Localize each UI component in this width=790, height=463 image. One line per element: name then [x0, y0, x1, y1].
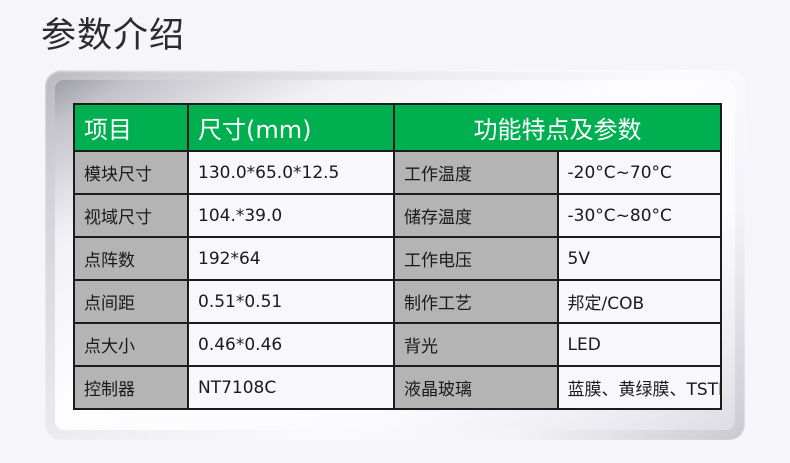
row-label-right: 储存温度 [394, 194, 558, 237]
header-item: 项目 [74, 104, 188, 151]
row-label-right: 制作工艺 [394, 280, 558, 323]
row-label-left: 控制器 [74, 366, 188, 409]
row-label-right: 背光 [394, 323, 558, 366]
row-value-left: 192*64 [188, 237, 394, 280]
row-value-left: 104.*39.0 [188, 194, 394, 237]
row-value-right: 邦定/COB [558, 280, 722, 323]
table-row: 控制器 NT7108C 液晶玻璃 蓝膜、黄绿膜、TSTN黑白 [74, 366, 721, 409]
table-row: 点阵数 192*64 工作电压 5V [74, 237, 721, 280]
row-value-right: LED [558, 323, 722, 366]
row-label-right: 工作温度 [394, 151, 558, 194]
row-value-left: NT7108C [188, 366, 394, 409]
page-title: 参数介绍 [41, 14, 185, 58]
table-row: 点间距 0.51*0.51 制作工艺 邦定/COB [74, 280, 721, 323]
row-value-right: -20°C~70°C [558, 151, 722, 194]
header-features: 功能特点及参数 [394, 104, 721, 151]
specifications-table: 项目 尺寸(mm) 功能特点及参数 模块尺寸 130.0*65.0*12.5 工… [73, 103, 722, 410]
table-body: 模块尺寸 130.0*65.0*12.5 工作温度 -20°C~70°C 视域尺… [74, 151, 721, 409]
row-value-left: 0.46*0.46 [188, 323, 394, 366]
row-label-left: 视域尺寸 [74, 194, 188, 237]
table-row: 视域尺寸 104.*39.0 储存温度 -30°C~80°C [74, 194, 721, 237]
table-row: 模块尺寸 130.0*65.0*12.5 工作温度 -20°C~70°C [74, 151, 721, 194]
table-header-row: 项目 尺寸(mm) 功能特点及参数 [74, 104, 721, 151]
table-header: 项目 尺寸(mm) 功能特点及参数 [74, 104, 721, 151]
row-value-right: 5V [558, 237, 722, 280]
row-label-left: 点阵数 [74, 237, 188, 280]
row-value-left: 0.51*0.51 [188, 280, 394, 323]
row-value-right: 蓝膜、黄绿膜、TSTN黑白 [558, 366, 722, 409]
row-label-left: 点间距 [74, 280, 188, 323]
row-value-left: 130.0*65.0*12.5 [188, 151, 394, 194]
row-label-left: 模块尺寸 [74, 151, 188, 194]
row-label-left: 点大小 [74, 323, 188, 366]
row-value-right: -30°C~80°C [558, 194, 722, 237]
table-row: 点大小 0.46*0.46 背光 LED [74, 323, 721, 366]
row-label-right: 液晶玻璃 [394, 366, 558, 409]
header-size: 尺寸(mm) [188, 104, 394, 151]
row-label-right: 工作电压 [394, 237, 558, 280]
